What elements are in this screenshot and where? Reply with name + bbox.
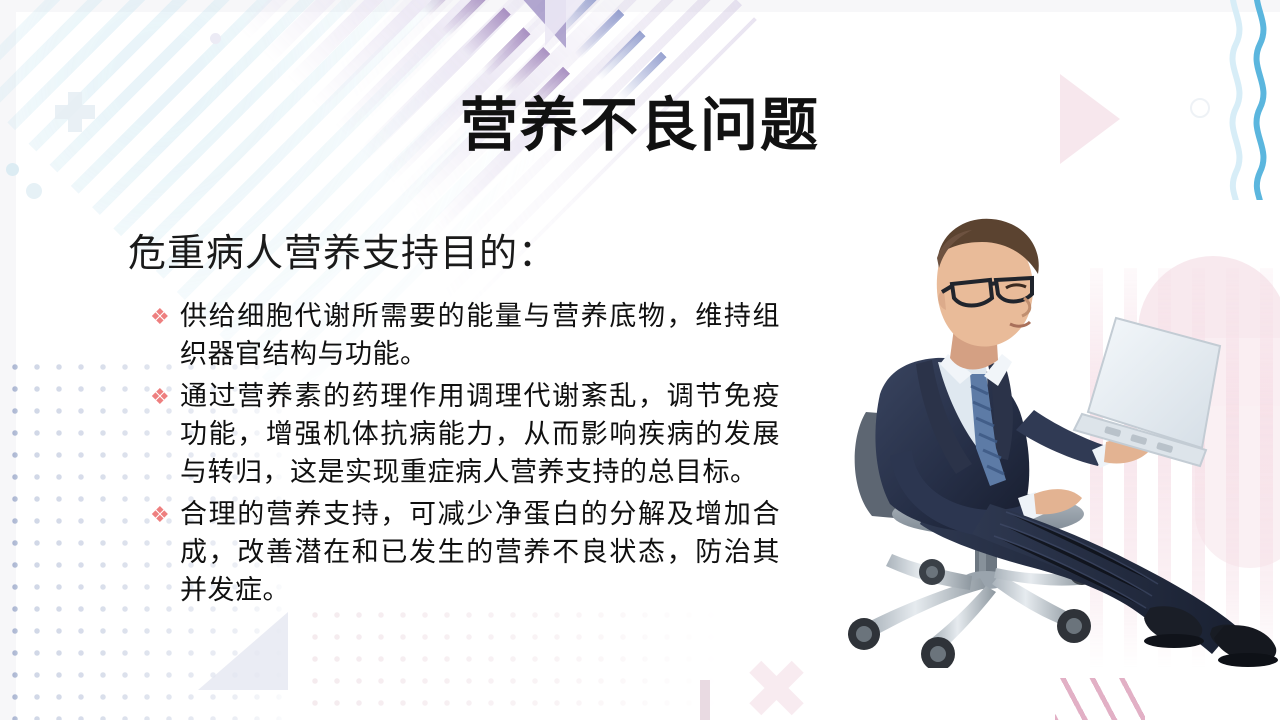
list-item-text: 合理的营养支持，可减少净蛋白的分解及增加合成，改善潜在和已发生的营养不良状态，防… (180, 496, 780, 610)
slide-canvas: 营养不良问题 危重病人营养支持目的： ❖ 供给细胞代谢所需要的能量与营养底物，维… (0, 0, 1280, 720)
list-item: ❖ 通过营养素的药理作用调理代谢紊乱，调节免疫功能，增强机体抗病能力，从而影响疾… (150, 378, 780, 492)
diamond-bullet-icon: ❖ (150, 378, 180, 416)
bullet-list: ❖ 供给细胞代谢所需要的能量与营养底物，维持组织器官结构与功能。 ❖ 通过营养素… (150, 298, 780, 614)
section-subtitle: 危重病人营养支持目的： (128, 222, 557, 277)
list-item: ❖ 供给细胞代谢所需要的能量与营养底物，维持组织器官结构与功能。 (150, 298, 780, 374)
page-title: 营养不良问题 (0, 78, 1280, 162)
list-item-text: 通过营养素的药理作用调理代谢紊乱，调节免疫功能，增强机体抗病能力，从而影响疾病的… (180, 378, 780, 492)
diamond-bullet-icon: ❖ (150, 298, 180, 336)
diamond-bullet-icon: ❖ (150, 496, 180, 534)
businessman-with-laptop-photo (820, 198, 1280, 668)
list-item-text: 供给细胞代谢所需要的能量与营养底物，维持组织器官结构与功能。 (180, 298, 780, 374)
list-item: ❖ 合理的营养支持，可减少净蛋白的分解及增加合成，改善潜在和已发生的营养不良状态… (150, 496, 780, 610)
